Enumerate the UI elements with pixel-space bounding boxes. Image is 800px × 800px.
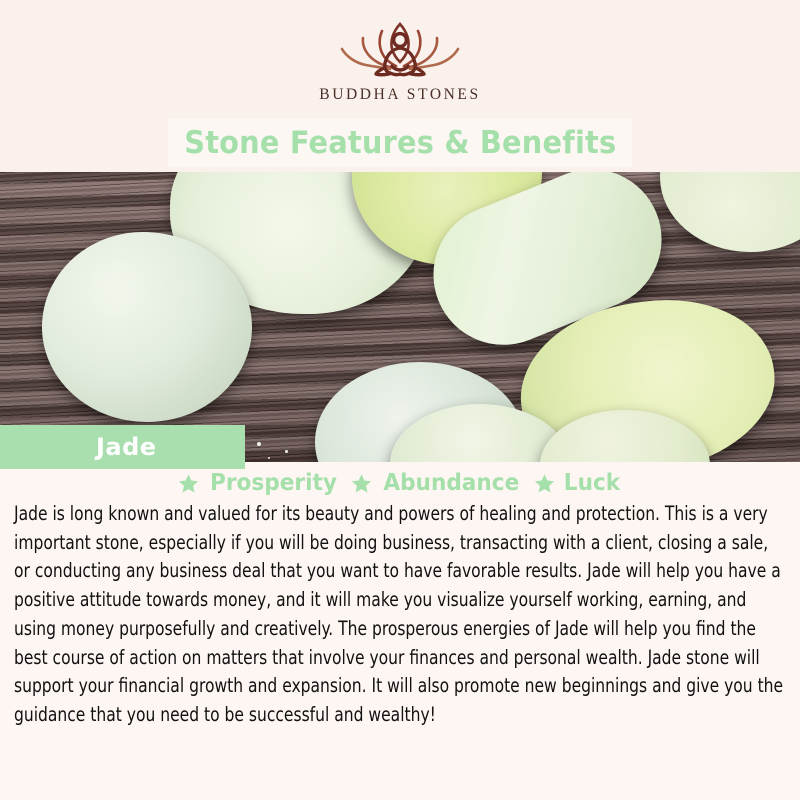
star-icon	[178, 473, 199, 494]
stone-label-band: Jade	[0, 425, 245, 469]
star-icon	[534, 473, 555, 494]
stone-name: Jade	[96, 433, 157, 461]
title-banner: Stone Features & Benefits	[168, 119, 632, 167]
stone-shape	[42, 232, 252, 422]
keyword-list: Prosperity Abundance Luck	[14, 470, 786, 496]
keyword-label: Prosperity	[210, 470, 337, 496]
keyword-label: Abundance	[384, 470, 520, 496]
description-section: Prosperity Abundance Luck Jade is long k…	[0, 462, 800, 800]
keyword-item: Prosperity	[178, 470, 341, 496]
keyword-label: Luck	[564, 470, 620, 496]
keyword-item: Luck	[534, 470, 622, 496]
star-icon	[351, 473, 372, 494]
stone-photo	[0, 172, 800, 462]
sparkle	[257, 442, 261, 446]
header: BUDDHA STONES Stone Features & Benefits	[0, 0, 800, 172]
sparkle	[268, 457, 270, 459]
sparkle	[285, 450, 288, 453]
brand-logo: BUDDHA STONES	[0, 18, 800, 104]
stone-description: Jade is long known and valued for its be…	[14, 500, 784, 730]
product-info-card: BUDDHA STONES Stone Features & Benefits …	[0, 0, 800, 800]
keyword-item: Abundance	[351, 470, 524, 496]
page-title: Stone Features & Benefits	[184, 125, 616, 161]
brand-name: BUDDHA STONES	[319, 86, 480, 104]
lotus-meditation-icon	[332, 18, 468, 80]
